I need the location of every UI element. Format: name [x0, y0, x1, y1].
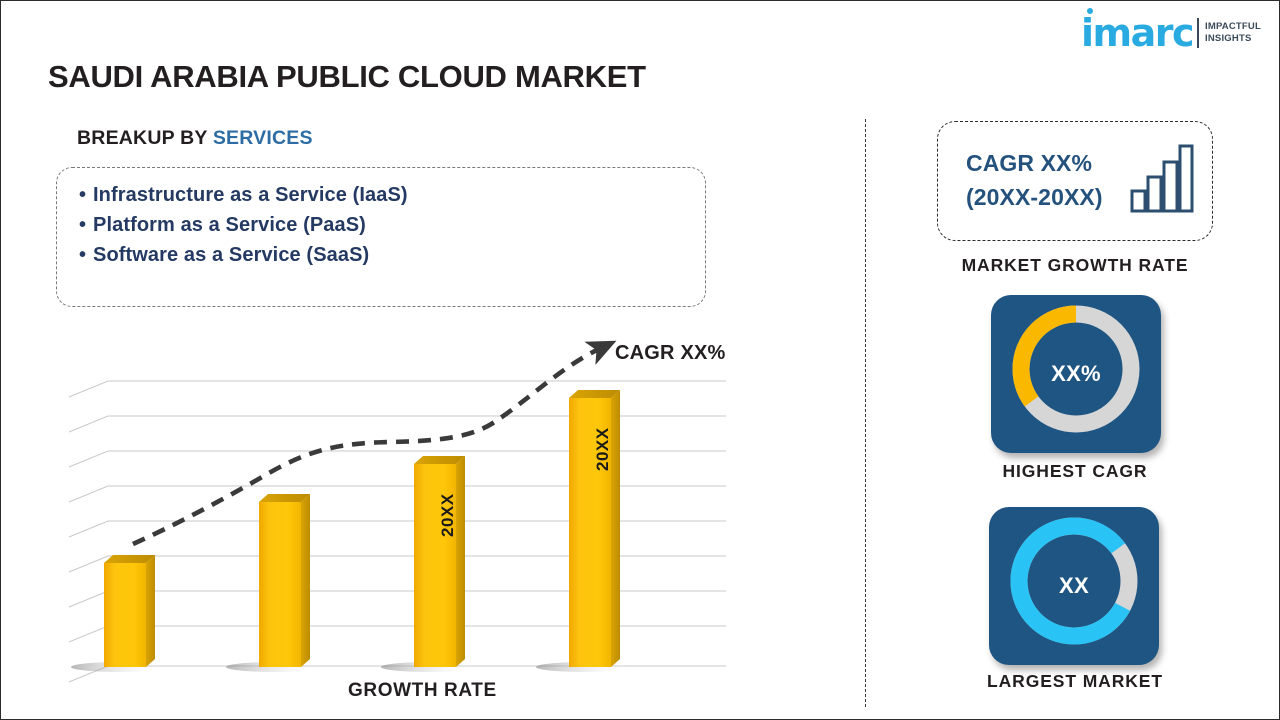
largest-market-donut — [989, 507, 1159, 665]
logo-tagline: IMPACTFUL INSIGHTS — [1205, 21, 1261, 45]
breakup-highlight: SERVICES — [213, 127, 313, 149]
segment-label: Platform as a Service (PaaS) — [93, 214, 366, 236]
bullet-icon: • — [79, 240, 93, 270]
cagr-box-text: CAGR XX% (20XX-20XX) — [966, 146, 1103, 214]
segments-box: •Infrastructure as a Service (IaaS) •Pla… — [56, 167, 706, 307]
bar-3 — [381, 456, 477, 672]
trend-line — [133, 349, 599, 544]
list-item: •Infrastructure as a Service (IaaS) — [79, 180, 705, 210]
highest-cagr-donut — [991, 295, 1161, 453]
chart-cagr-annotation: CAGR XX% — [615, 342, 726, 365]
chart-x-axis-label: GROWTH RATE — [348, 680, 497, 702]
market-growth-rate-caption: MARKET GROWTH RATE — [937, 255, 1213, 276]
list-item: •Software as a Service (SaaS) — [79, 240, 705, 270]
bullet-icon: • — [79, 180, 93, 210]
highest-cagr-caption: HIGHEST CAGR — [937, 461, 1213, 482]
page-title: SAUDI ARABIA PUBLIC CLOUD MARKET — [48, 59, 646, 95]
bar-label-3: 20XX — [438, 493, 458, 537]
ascending-bars-icon — [1130, 143, 1194, 218]
logo-divider — [1197, 18, 1199, 48]
logo-wordmark-text: imarc — [1081, 11, 1193, 55]
cagr-period: (20XX-20XX) — [966, 180, 1103, 214]
largest-market-caption: LARGEST MARKET — [937, 671, 1213, 692]
panel-divider — [865, 119, 866, 707]
logo-dot-icon — [1087, 8, 1093, 14]
imarc-logo: imarc IMPACTFUL INSIGHTS — [1081, 13, 1261, 53]
breakup-prefix: BREAKUP BY — [77, 127, 213, 149]
highest-cagr-card: XX% — [991, 295, 1161, 453]
chart-gridlines — [69, 381, 726, 682]
largest-market-card: XX — [989, 507, 1159, 665]
cagr-value: CAGR XX% — [966, 146, 1103, 180]
breakup-heading: BREAKUP BY SERVICES — [77, 127, 313, 150]
segment-label: Infrastructure as a Service (IaaS) — [93, 184, 408, 206]
infographic-page: imarc IMPACTFUL INSIGHTS SAUDI ARABIA PU… — [0, 0, 1280, 720]
segment-label: Software as a Service (SaaS) — [93, 244, 369, 266]
bar-1 — [71, 555, 167, 672]
logo-wordmark: imarc — [1081, 14, 1193, 52]
list-item: •Platform as a Service (PaaS) — [79, 210, 705, 240]
bar-4 — [536, 390, 632, 672]
chart-svg — [61, 331, 751, 720]
bullet-icon: • — [79, 210, 93, 240]
segments-list: •Infrastructure as a Service (IaaS) •Pla… — [57, 168, 705, 270]
growth-bar-chart — [61, 331, 751, 720]
logo-tagline-line2: INSIGHTS — [1205, 33, 1261, 45]
bar-label-4: 20XX — [593, 427, 613, 471]
cagr-box: CAGR XX% (20XX-20XX) — [937, 121, 1213, 241]
logo-tagline-line1: IMPACTFUL — [1205, 21, 1261, 33]
